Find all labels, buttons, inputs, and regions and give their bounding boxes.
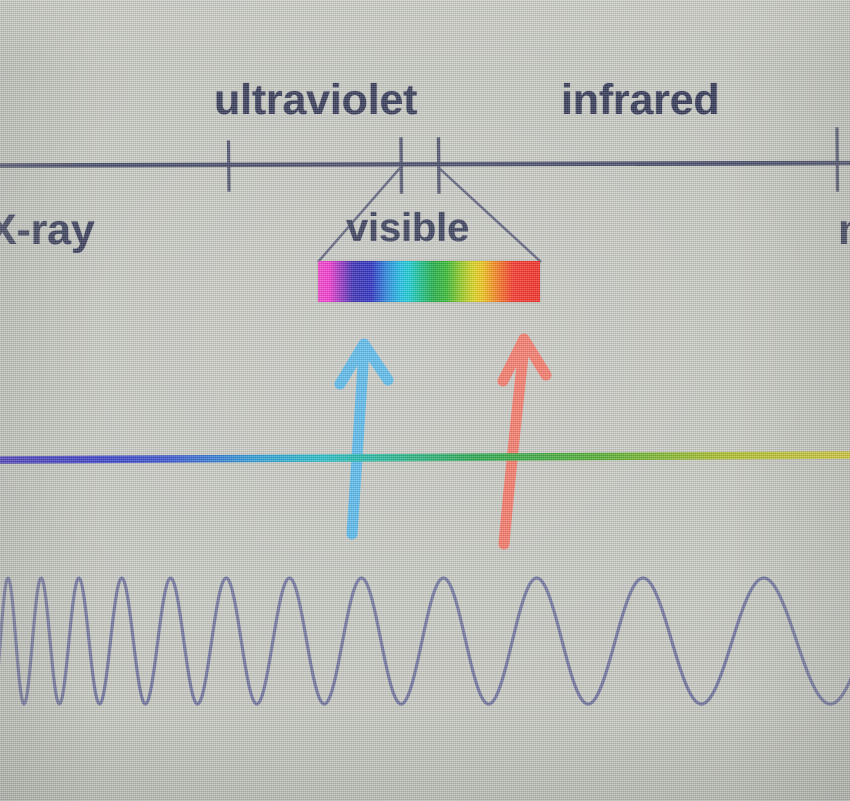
visible-spectrum-swatch — [318, 261, 540, 302]
label-xray: X-ray — [0, 206, 95, 255]
label-infrared: infrared — [561, 76, 720, 125]
label-microwave: m — [838, 206, 850, 255]
label-ultraviolet: ultraviolet — [214, 76, 417, 125]
chirped-sine-wave — [0, 578, 850, 704]
spectrum-diagram-photo: ultraviolet infrared X-ray visible m — [0, 0, 850, 801]
chirped-wave-layer — [0, 0, 850, 801]
label-visible: visible — [346, 206, 469, 251]
